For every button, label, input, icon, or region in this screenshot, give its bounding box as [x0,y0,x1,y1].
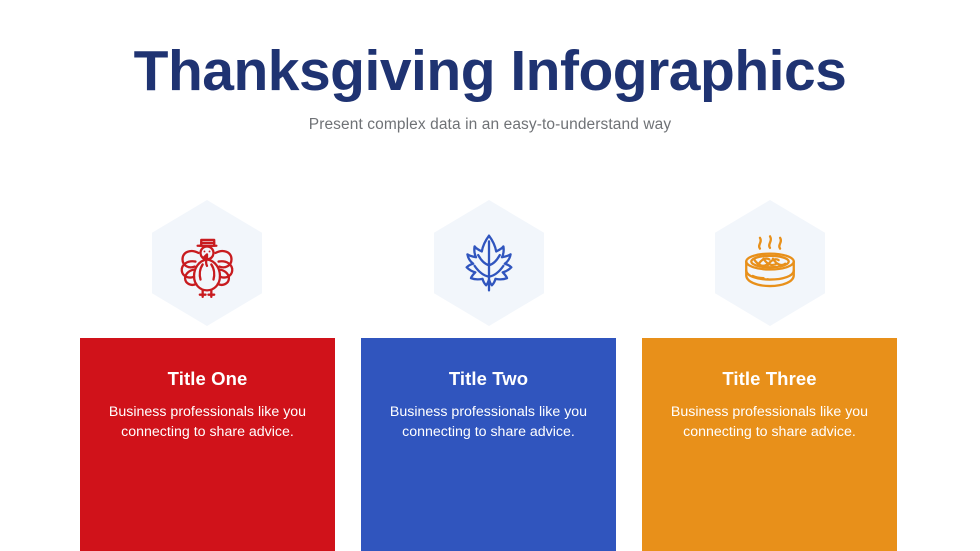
infographic-slide: Thanksgiving Infographics Present comple… [0,0,980,551]
icon-badge-two [434,200,544,326]
card-body-three: Business professionals like you connecti… [658,402,881,442]
info-card-three[interactable]: Title Three Business professionals like … [642,338,897,551]
info-card-one[interactable]: Title One Business professionals like yo… [80,338,335,551]
pie-icon [734,227,806,299]
page-subtitle: Present complex data in an easy-to-under… [0,116,980,134]
card-title-one: Title One [96,368,319,390]
card-body-two: Business professionals like you connecti… [377,402,600,442]
icon-row [0,200,980,328]
turkey-icon [171,227,243,299]
slide-header: Thanksgiving Infographics Present comple… [0,42,980,134]
card-body-one: Business professionals like you connecti… [96,402,319,442]
icon-badge-three [715,200,825,326]
autumn-leaf-icon [453,227,525,299]
icon-badge-one [152,200,262,326]
card-title-three: Title Three [658,368,881,390]
info-card-two[interactable]: Title Two Business professionals like yo… [361,338,616,551]
page-title: Thanksgiving Infographics [0,42,980,102]
card-title-two: Title Two [377,368,600,390]
card-row: Title One Business professionals like yo… [0,338,980,551]
